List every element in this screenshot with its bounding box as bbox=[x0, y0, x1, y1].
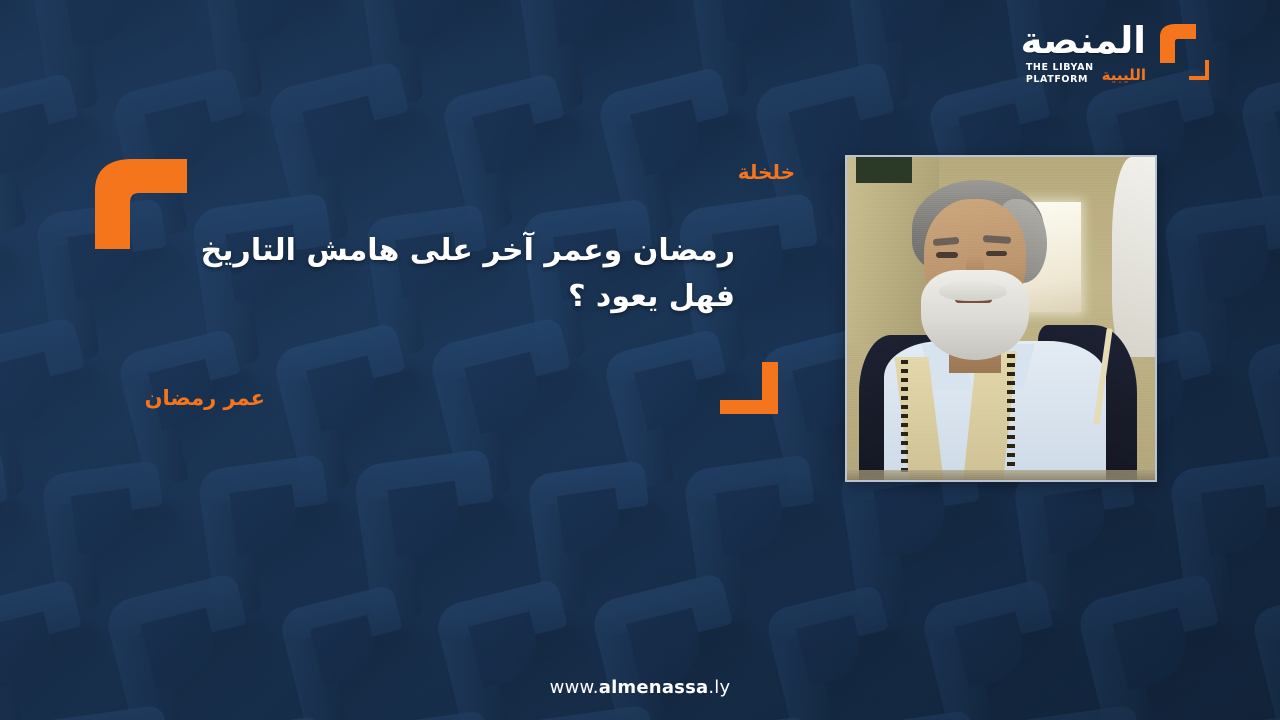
brand-name-arabic: المنصة bbox=[1021, 22, 1146, 59]
article-author: عمر رمضان bbox=[145, 386, 265, 410]
footer-url[interactable]: www.almenassa.ly bbox=[0, 677, 1280, 698]
portrait-photo bbox=[845, 155, 1157, 482]
article-kicker: خلخلة bbox=[738, 160, 795, 184]
photo-grain-overlay bbox=[847, 157, 1155, 480]
article-headline: رمضان وعمر آخر على هامش التاريخ فهل يعود… bbox=[175, 228, 735, 319]
headline-line-2: فهل يعود ؟ bbox=[175, 274, 735, 320]
footer-url-prefix: www. bbox=[550, 677, 599, 698]
footer-url-name: almenassa bbox=[599, 677, 709, 698]
footer-url-tld: .ly bbox=[708, 677, 730, 698]
brand-subtitle-row: THE LIBYAN PLATFORM الليبية bbox=[1021, 62, 1146, 85]
portrait-image bbox=[847, 157, 1155, 480]
brand-name-english: THE LIBYAN PLATFORM bbox=[1026, 62, 1094, 85]
hook-mark-icon bbox=[1158, 23, 1198, 63]
brand-name-arabic-sub: الليبية bbox=[1102, 68, 1146, 83]
brand-logo-text: المنصة THE LIBYAN PLATFORM الليبية bbox=[1021, 22, 1146, 85]
brand-name-english-line2: PLATFORM bbox=[1026, 74, 1088, 85]
brand-mark bbox=[1156, 23, 1218, 85]
headline-line-1: رمضان وعمر آخر على هامش التاريخ bbox=[201, 233, 735, 268]
brand-name-english-line1: THE LIBYAN bbox=[1026, 62, 1094, 73]
brand-logo[interactable]: المنصة THE LIBYAN PLATFORM الليبية bbox=[1021, 22, 1218, 85]
article-card: المنصة THE LIBYAN PLATFORM الليبية خلخلة bbox=[0, 0, 1280, 720]
decorative-hook-small-icon bbox=[718, 360, 782, 416]
hook-mark-outline-icon bbox=[1188, 59, 1212, 81]
